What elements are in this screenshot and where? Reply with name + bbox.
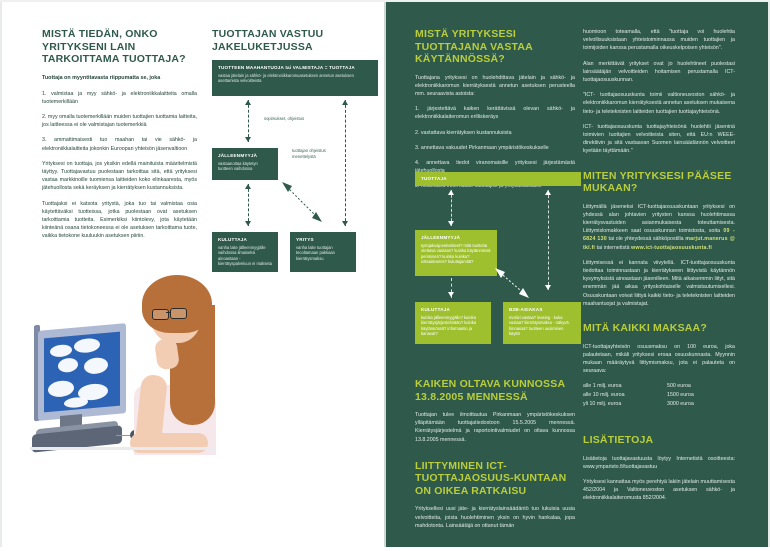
diagram-line-left-upper xyxy=(248,100,249,142)
diagram-arrow-down-right xyxy=(342,221,348,226)
price-row-label: alle 1 milj. euroa xyxy=(583,382,667,391)
diagram-box-jalleenmyyja: JÄLLEENMYYJÄ vastaanottaa käytetyn tuott… xyxy=(212,148,278,180)
desk-surface xyxy=(30,447,215,450)
col3-item-1: 1. järjestettävä kaiken kerättävissä ole… xyxy=(415,105,575,121)
col4-continuation-1: huomioon toteamalla, että "tuottaja voi … xyxy=(583,28,735,53)
diagram-box-kuluttaja-title: KULUTTAJA xyxy=(218,237,272,243)
col3-deadline-text: Tuottajan tulee ilmoittautua Pirkanmaan … xyxy=(415,411,575,444)
diagram-caption-sopimukset: sopimukset, ohjeistus xyxy=(264,116,324,122)
col1-heading: MISTÄ TIEDÄN, ONKO YRITYKSENI LAIN TARKO… xyxy=(42,28,197,66)
page-fold xyxy=(384,0,386,551)
website-url[interactable]: www.ict-tuottajaosuuskunta.fi xyxy=(631,245,712,251)
diagram-box-jalleenmyyja-title: JÄLLEENMYYJÄ xyxy=(218,153,272,159)
price-row-label: alle 10 milj. euroa xyxy=(583,391,667,400)
col1-item-1: 1. valmistaa ja myy sähkö- ja elektronii… xyxy=(42,90,197,106)
diagram-box-yritys-subtitle: vanha laite tuottajan tecoltamaan pakkaa… xyxy=(296,245,350,261)
diagram2-box-jalleenmyyja: JÄLLEENMYYJÄ työnjakoajovelvoitteet? mit… xyxy=(415,230,497,276)
price-table: alle 1 milj. euroa 500 euroa alle 10 mil… xyxy=(583,382,735,408)
distribution-chain-diagram: TUOTTEEN MAAHANTUOJA tai VALMISTAJA = TU… xyxy=(212,60,378,310)
monitor-screen xyxy=(44,332,120,413)
col2-heading: TUOTTAJAN VASTUU JAKELUKETJUSSA xyxy=(212,28,374,53)
column-three-lower: KAIKEN OLTAVA KUNNOSSA 13.8.2005 MENNESS… xyxy=(415,378,575,537)
diagram-box-kuluttaja: KULUTTAJA vanha laite jälleenmyyjälle va… xyxy=(212,232,278,272)
price-table-row: yli 10 milj. euroa 3000 euroa xyxy=(583,400,735,409)
diagram-box-yritys-title: YRITYS xyxy=(296,237,350,243)
diagram2-line-right-long xyxy=(548,190,549,290)
col4-more-text-b: Yrityksesi kannattaa myös perehtyä lakii… xyxy=(583,478,735,503)
diagram-box-maahantuoja-subtitle: vastaa jätelain ja sähkö- ja elektroniik… xyxy=(218,73,372,84)
price-row-value: 500 euroa xyxy=(667,382,735,391)
diagram-box-maahantuoja-title: TUOTTEEN MAAHANTUOJA tai VALMISTAJA = TU… xyxy=(218,65,372,71)
col4-join-text-a: Liittymällä jäseneksi ICT-tuottajaosuusk… xyxy=(583,204,735,235)
diagram-arrow-up-right xyxy=(342,100,348,105)
col4-cost-text: ICT-tuottajayhteisön osuusmaksu on 100 e… xyxy=(583,343,735,376)
diagram2-box-b2b: B2B-ASIAKAS motiivi vastaa? leasing - ku… xyxy=(503,302,581,344)
col4-more-url[interactable]: www.ymparisto.fi/tuottajavastuu xyxy=(583,464,657,470)
page-edge-top xyxy=(0,0,770,2)
diagram-box-jalleenmyyja-subtitle: vastaanottaa käytetyn tuotteen vaihdossa xyxy=(218,161,272,172)
diagram2-arrow-up-right xyxy=(545,190,551,195)
diagram-box-yritys: YRITYS vanha laite tuottajan tecoltamaan… xyxy=(290,232,356,272)
glasses-bridge xyxy=(166,312,171,313)
col4-join-text-b: tai ole yhteydessä sähköpostilla xyxy=(609,236,684,242)
diagram2-arrow-up-left-upper xyxy=(448,190,454,195)
price-row-value: 1500 euroa xyxy=(667,391,735,400)
col4-join-paragraph-d: Liittymisessä ei kannata viivytellä. ICT… xyxy=(583,259,735,308)
diagram2-arrow-down-right xyxy=(545,285,551,290)
col1-item-3: 3. ammattimaisesti tuo maahan tai vie sä… xyxy=(42,136,197,152)
column-four: huomioon toteamalla, että "tuottaja voi … xyxy=(583,28,735,510)
col4-cost-heading: MITÄ KAIKKI MAKSAA? xyxy=(583,322,735,335)
diagram2-box-kuluttaja: KULUTTAJA kuinka jälleenmyyjälle? kuinka… xyxy=(415,302,491,344)
diagram-box-kuluttaja-subtitle: vanha laite jälleenmyyjälle vaihdossa il… xyxy=(218,245,272,267)
diagram-arrow-up-left-upper xyxy=(245,100,251,105)
diagram2-box-jalleenmyyja-title: JÄLLEENMYYJÄ xyxy=(421,235,491,241)
diagram2-box-kuluttaja-title: KULUTTAJA xyxy=(421,307,485,313)
diagram2-box-b2b-title: B2B-ASIAKAS xyxy=(509,307,575,313)
column-one: MISTÄ TIEDÄN, ONKO YRITYKSENI LAIN TARKO… xyxy=(42,28,197,248)
diagram-box-maahantuoja: TUOTTEEN MAAHANTUOJA tai VALMISTAJA = TU… xyxy=(212,60,378,96)
diagram2-arrow-down-left-lower xyxy=(448,292,454,297)
practice-questions-diagram: TUOTTAJA JÄLLEENMYYJÄ työnjakoajovelvoit… xyxy=(415,172,581,362)
col4-continuation-4: ICT- tuottajaosuuskunta tuottajayhteisön… xyxy=(583,123,735,156)
page-edge-bottom xyxy=(0,547,770,551)
col3-deadline-heading: KAIKEN OLTAVA KUNNOSSA 13.8.2005 MENNESS… xyxy=(415,378,575,403)
diagram2-box-kuluttaja-subtitle: kuinka jälleenmyyjälle? kuinka kierrätys… xyxy=(421,315,485,337)
col1-item-2: 2. myy omalla tuotemerkillään muiden tuo… xyxy=(42,113,197,129)
diagram-arrow-up-left-lower xyxy=(245,184,251,189)
diagram-diagonal-arrow xyxy=(212,60,378,310)
col3-join-heading: LIITTYMINEN ICT-TUOTTAJAOSUUS-KUNTAAN ON… xyxy=(415,460,575,498)
diagram2-box-tuottaja-title: TUOTTAJA xyxy=(421,176,575,182)
person-forearm xyxy=(130,433,208,453)
person-hair xyxy=(142,275,212,333)
col4-join-text-c: tai internetistä xyxy=(597,245,630,251)
col1-paragraph-1: Yrityksesi on tuottaja, jos yksikin edel… xyxy=(42,160,197,193)
price-table-row: alle 10 milj. euroa 1500 euroa xyxy=(583,391,735,400)
column-two: TUOTTAJAN VASTUU JAKELUKETJUSSA xyxy=(212,28,374,61)
col4-more-heading: LISÄTIETOJA xyxy=(583,434,735,447)
diagram2-box-tuottaja: TUOTTAJA xyxy=(415,172,581,186)
diagram2-box-jalleenmyyja-subtitle: työnjakoajovelvoitteet? mitä tuotteita o… xyxy=(421,243,491,265)
brochure-spread: MISTÄ TIEDÄN, ONKO YRITYKSENI LAIN TARKO… xyxy=(0,0,770,551)
photo-woman-at-computer xyxy=(30,275,215,537)
col3-heading: MISTÄ YRITYKSESI TUOTTAJANA VASTAA KÄYTÄ… xyxy=(415,28,575,66)
diagram2-arrow-down-left-upper xyxy=(448,221,454,226)
col1-lead: Tuottaja on myyntitavasta riippumatta se… xyxy=(42,74,197,82)
diagram-caption-ohjeistus: tuottajan ohjeistus menettelystä xyxy=(292,148,340,159)
diagram-arrow-down-left-upper xyxy=(245,137,251,142)
diagram-line-left-lower xyxy=(248,184,249,226)
price-row-label: yli 10 milj. euroa xyxy=(583,400,667,409)
col4-continuation-2: Alan merkittävät yritykset ovat jo huole… xyxy=(583,60,735,85)
col4-join-heading: MITEN YRITYKSESI PÄÄSEE MUKAAN? xyxy=(583,170,735,195)
col4-continuation-3: "ICT- tuottajaosuuskunta toimii valtione… xyxy=(583,91,735,116)
person-hand xyxy=(154,338,180,371)
glasses-left-lens xyxy=(152,309,169,320)
col3-join-text: Yrityksellesi uusi jäte- ja kierrätyslai… xyxy=(415,505,575,530)
diagram-line-right-long xyxy=(345,100,346,226)
col4-more-lead: Lisätietoja tuottajavastuusta löytyy Int… xyxy=(583,456,735,462)
glasses-right-lens xyxy=(170,308,187,319)
col3-intro: Tuottajana yrityksesi on huolehdittava j… xyxy=(415,74,575,99)
price-table-row: alle 1 milj. euroa 500 euroa xyxy=(583,382,735,391)
col4-join-paragraph-a: Liittymällä jäseneksi ICT-tuottajaosuusk… xyxy=(583,203,735,252)
col1-paragraph-2: Tuottajaksi ei katsota yritystä, joka tu… xyxy=(42,200,197,241)
col3-item-2: 2. vastattava kierrätyksen kustannuksist… xyxy=(415,129,575,137)
col3-item-3: 3. annettava vakuudet Pirkanmaan ympäris… xyxy=(415,144,575,152)
price-row-value: 3000 euroa xyxy=(667,400,735,409)
diagram-arrow-down-left-lower xyxy=(245,221,251,226)
page-edge-left xyxy=(0,0,2,551)
col4-more-text-a: Lisätietoja tuottajavastuusta löytyy Int… xyxy=(583,455,735,471)
diagram2-box-b2b-subtitle: motiivi vastaa? leasing - kuka vastaa? k… xyxy=(509,315,575,337)
